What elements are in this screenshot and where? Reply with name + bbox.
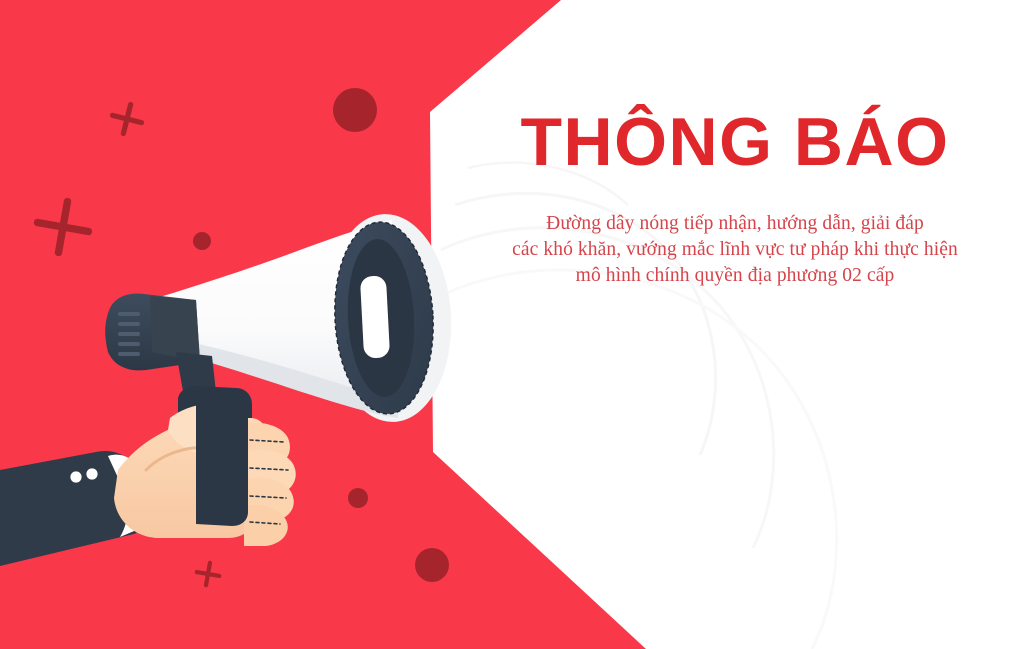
sleeve-button-2 [86,468,97,479]
decor-circle-small-left [193,232,211,250]
decor-circle-small-bottom [348,488,368,508]
megaphone-neck [150,296,200,362]
megaphone-grip-front [196,396,248,526]
sleeve-button-1 [70,471,81,482]
decor-circle-medium-bottom [415,548,449,582]
banner-canvas: THÔNG BÁO Đường dây nóng tiếp nhận, hướn… [0,0,1024,649]
decor-circle-large-top [333,88,377,132]
banner-artwork [0,0,1024,649]
horn-inner-highlight [360,275,390,358]
